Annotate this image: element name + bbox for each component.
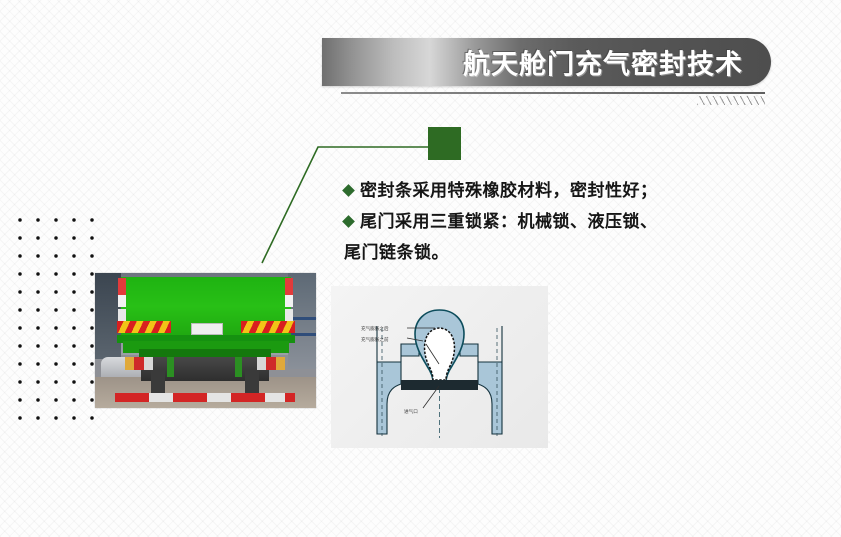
slide-canvas: 航天舱门充气密封技术 密封条采用特殊橡胶材料，密封性好； 尾门采用三重锁紧：机械… [0,0,841,537]
diagram-right-shoulder [460,344,478,362]
green-square-marker [428,127,461,160]
bullet-list: 密封条采用特殊橡胶材料，密封性好； 尾门采用三重锁紧：机械锁、液压锁、 尾门链条… [344,176,764,269]
photo-chassis-leg-left [151,369,165,395]
diamond-icon [342,184,355,197]
photo-corner-marker [285,278,293,295]
hatch-rule-icon [697,96,765,105]
photo-corner-marker [118,309,126,321]
diagram-mounting-plate [401,380,478,390]
diamond-icon [342,215,355,228]
list-item-label: 尾门链条锁。 [344,243,449,263]
photo-rear-bumper [115,393,295,402]
photo-tail-light-left [125,357,153,370]
diagram-right-jamb [478,326,502,434]
photo-corner-marker [285,295,293,307]
list-item-label: 尾门采用三重锁紧：机械锁、液压锁、 [360,212,658,232]
photo-hazard-stripe-left [117,321,171,333]
list-item-continuation: 尾门链条锁。 [344,238,764,269]
list-item-label: 密封条采用特殊橡胶材料，密封性好； [360,181,658,201]
diagram-label-before: 充气膨胀之前 [361,336,389,343]
photo-rail-upper [291,317,316,320]
list-item: 密封条采用特殊橡胶材料，密封性好； [344,176,764,207]
seal-cross-section-diagram: 充气膨胀之后 充气膨胀之前 进气口 [331,286,548,448]
diagram-label-inlet: 进气口 [404,408,418,415]
photo-tailgate-bar [139,349,271,357]
diagram-svg: 充气膨胀之后 充气膨胀之前 进气口 [331,286,548,448]
diagram-seal-before-inflation [425,328,455,380]
list-item: 尾门采用三重锁紧：机械锁、液压锁、 [344,207,764,238]
photo-chassis-leg-right [245,369,259,395]
page-title: 航天舱门充气密封技术 [463,43,743,82]
photo-label-plate [191,323,223,335]
title-rule-divider [341,92,765,94]
diagram-label-after: 充气膨胀之后 [361,325,389,332]
photo-hazard-stripe-right [241,321,295,333]
photo-corner-marker [118,295,126,307]
dot-pattern-icon [8,208,104,420]
photo-corner-marker [118,278,126,295]
diagram-left-shoulder [401,344,419,362]
title-banner: 航天舱门充气密封技术 [322,38,771,86]
photo-corner-marker [285,309,293,321]
truck-tailgate-photo [95,273,316,408]
photo-tail-light-right [257,357,285,370]
